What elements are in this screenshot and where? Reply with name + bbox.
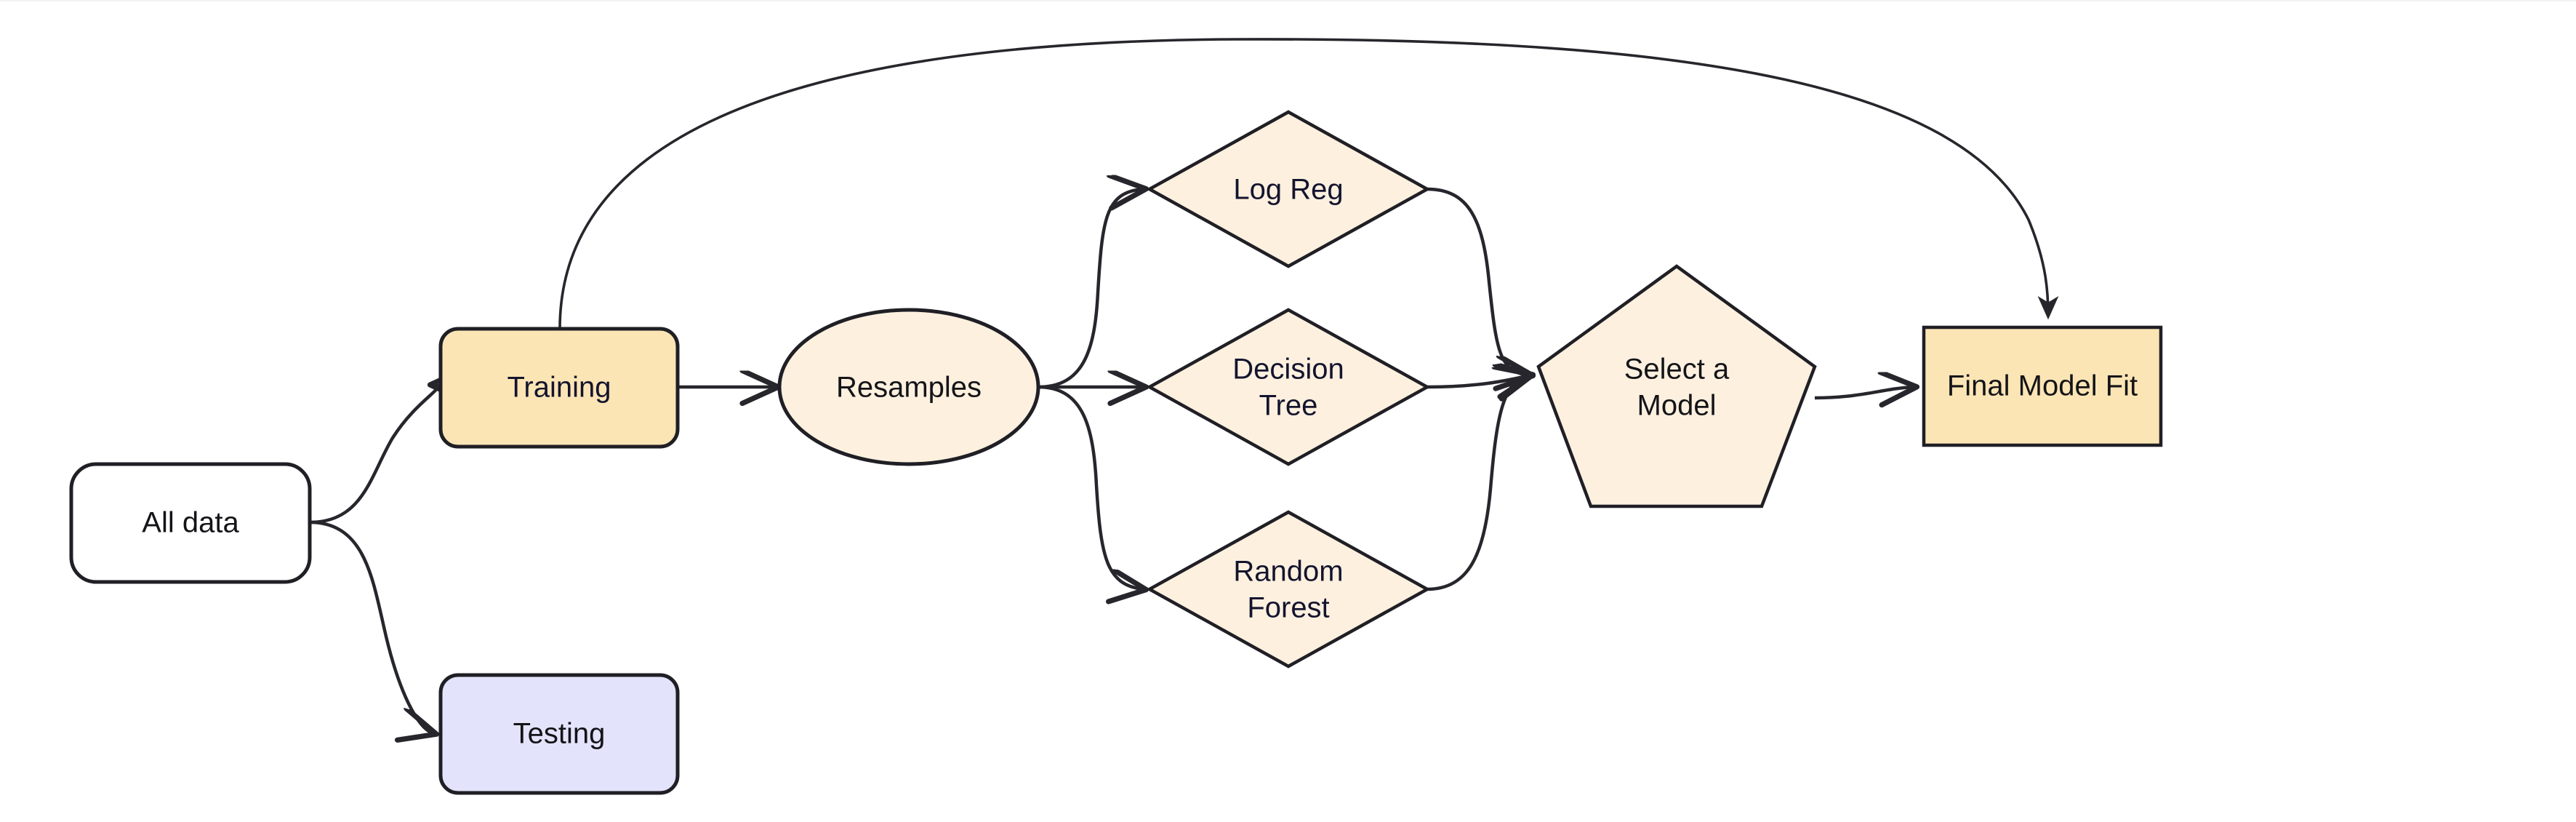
node-testing[interactable]: Testing	[441, 675, 678, 793]
edge-resamples-to-random-forest	[1038, 387, 1143, 589]
node-log-reg[interactable]: Log Reg	[1149, 112, 1427, 266]
node-select-a-model[interactable]: Select a Model	[1538, 266, 1815, 506]
diagram-canvas: All data Training Testing Resamples Log …	[0, 0, 2576, 821]
node-log-reg-label: Log Reg	[1233, 174, 1343, 206]
edge-select-a-model-to-final-model-fit	[1815, 387, 1914, 398]
node-select-a-model-label-line2: Model	[1637, 390, 1717, 422]
edge-all-data-to-training	[310, 385, 438, 522]
edge-all-data-to-testing	[310, 522, 433, 733]
node-random-forest-label-line2: Forest	[1247, 592, 1329, 624]
node-decision-tree-label-line1: Decision	[1232, 354, 1344, 386]
edge-log-reg-to-select-a-model	[1427, 189, 1530, 375]
node-resamples[interactable]: Resamples	[779, 310, 1038, 464]
edge-random-forest-to-select-a-model	[1427, 375, 1530, 589]
edge-resamples-to-log-reg	[1038, 189, 1143, 387]
node-final-model-fit-label: Final Model Fit	[1947, 370, 2138, 402]
node-resamples-label: Resamples	[836, 372, 982, 404]
node-decision-tree[interactable]: Decision Tree	[1149, 310, 1427, 464]
node-select-a-model-label-line1: Select a	[1624, 354, 1730, 386]
node-random-forest[interactable]: Random Forest	[1149, 512, 1427, 666]
node-all-data[interactable]: All data	[71, 464, 310, 582]
node-final-model-fit[interactable]: Final Model Fit	[1924, 327, 2161, 445]
node-all-data-label: All data	[142, 507, 239, 539]
node-training-label: Training	[507, 372, 611, 404]
node-random-forest-label-line1: Random	[1233, 556, 1343, 588]
node-training[interactable]: Training	[441, 329, 678, 447]
node-testing-label: Testing	[513, 718, 606, 750]
flowchart-svg: All data Training Testing Resamples Log …	[0, 1, 2576, 822]
node-decision-tree-label-line2: Tree	[1259, 390, 1318, 422]
